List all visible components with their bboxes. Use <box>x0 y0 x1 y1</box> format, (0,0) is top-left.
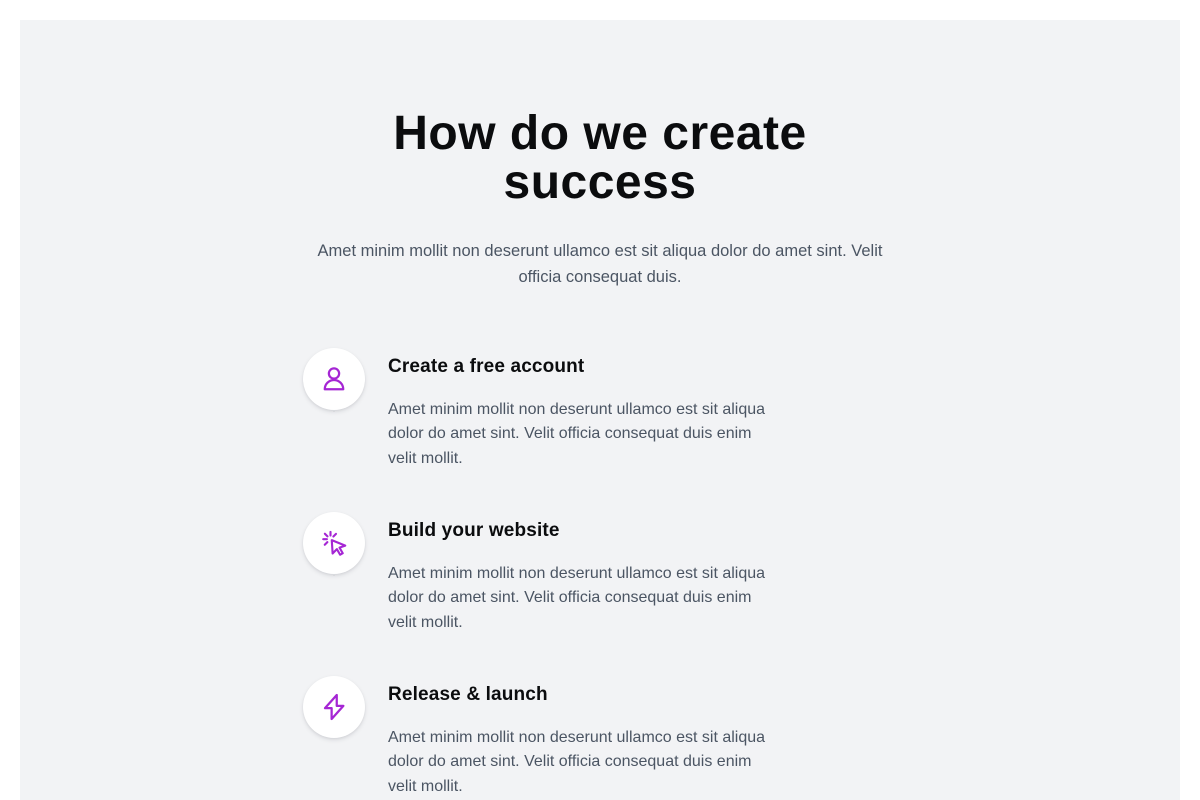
page-surface: How do we create success Amet minim moll… <box>20 20 1180 800</box>
step-icon-badge <box>303 348 365 410</box>
step-content: Create a free account Amet minim mollit … <box>378 348 778 471</box>
page-subtitle: Amet minim mollit non deserunt ullamco e… <box>290 238 910 290</box>
step-connector-line <box>333 410 336 412</box>
how-it-works-section: How do we create success Amet minim moll… <box>20 20 1180 800</box>
step-marker <box>290 348 378 410</box>
section-header: How do we create success Amet minim moll… <box>290 110 910 290</box>
step-title: Release & launch <box>388 684 778 706</box>
step-marker <box>290 512 378 574</box>
step-marker <box>290 676 378 738</box>
user-icon <box>319 364 349 394</box>
step-icon-badge <box>303 676 365 738</box>
steps-list: Create a free account Amet minim mollit … <box>290 290 910 800</box>
step-description: Amet minim mollit non deserunt ullamco e… <box>388 398 778 471</box>
step-content: Build your website Amet minim mollit non… <box>378 512 778 635</box>
step-content: Release & launch Amet minim mollit non d… <box>378 676 778 799</box>
step-description: Amet minim mollit non deserunt ullamco e… <box>388 562 778 635</box>
cursor-sparkle-icon <box>319 528 349 558</box>
lightning-bolt-icon <box>319 692 349 722</box>
step-item-build-website: Build your website Amet minim mollit non… <box>290 512 910 676</box>
step-icon-badge <box>303 512 365 574</box>
step-item-create-account: Create a free account Amet minim mollit … <box>290 348 910 512</box>
page-title: How do we create success <box>290 110 910 208</box>
step-title: Create a free account <box>388 356 778 378</box>
step-description: Amet minim mollit non deserunt ullamco e… <box>388 726 778 799</box>
step-item-release-launch: Release & launch Amet minim mollit non d… <box>290 676 910 800</box>
step-title: Build your website <box>388 520 778 542</box>
step-connector-line <box>333 574 336 576</box>
